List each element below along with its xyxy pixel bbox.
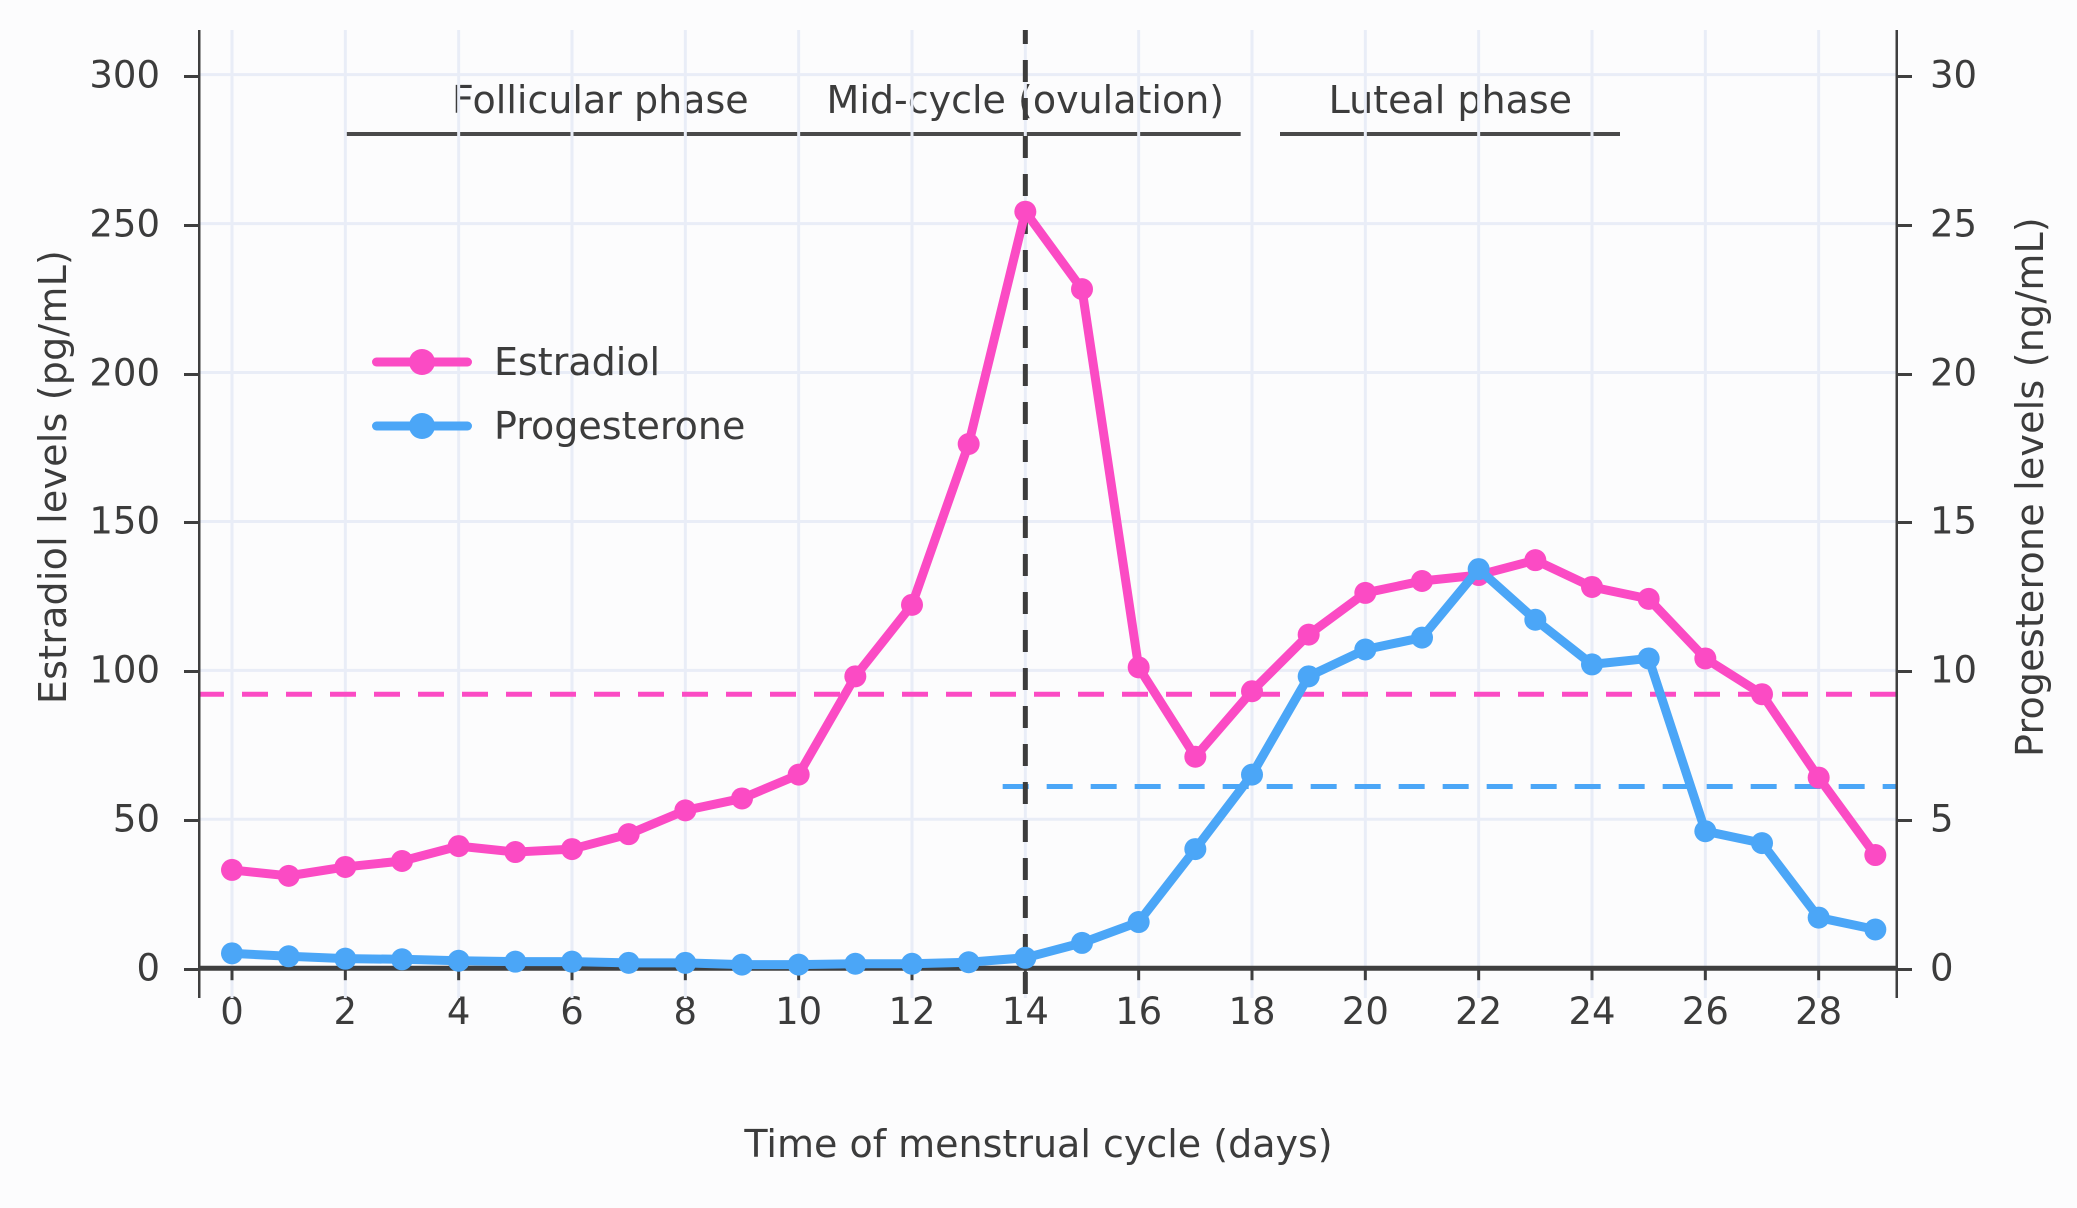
data-point-estradiol [1128,656,1150,678]
data-point-estradiol [1694,647,1716,669]
data-point-progesterone [1694,820,1716,842]
data-point-estradiol [1581,576,1603,598]
y-tick-mark-right [1898,521,1912,524]
series-line-progesterone [232,569,1875,965]
x-axis-title: Time of menstrual cycle (days) [0,1122,2077,1166]
y-tick-mark-right [1898,968,1912,971]
data-point-progesterone [334,948,356,970]
data-point-estradiol [1071,278,1093,300]
y-tick-label-right: 15 [1930,500,1977,543]
legend-label-progesterone: Progesterone [494,404,745,448]
y-axis-right-title: Progesterone levels (ng/mL) [2008,137,2052,837]
data-point-progesterone [1751,832,1773,854]
y-tick-mark-right [1898,670,1912,673]
data-point-estradiol [731,787,753,809]
data-point-estradiol [1864,844,1886,866]
legend-item-progesterone[interactable]: Progesterone [372,404,745,448]
data-point-estradiol [674,799,696,821]
data-point-estradiol [788,764,810,786]
y-tick-label-right: 25 [1930,202,1977,245]
data-point-estradiol [1184,746,1206,768]
data-point-estradiol [1808,767,1830,789]
data-point-progesterone [1014,947,1036,969]
y-tick-mark-left [184,224,198,227]
data-point-estradiol [1638,588,1660,610]
y-tick-label-left: 200 [89,351,160,394]
y-tick-label-right: 20 [1930,351,1977,394]
y-tick-label-right: 10 [1930,649,1977,692]
data-point-estradiol [278,865,300,887]
data-point-progesterone [1468,558,1490,580]
y-tick-mark-left [184,670,198,673]
data-point-progesterone [844,953,866,975]
data-point-progesterone [901,953,923,975]
y-tick-mark-left [184,968,198,971]
y-axis-left-title: Estradiol levels (pg/mL) [31,127,75,827]
data-point-progesterone [1184,838,1206,860]
data-point-progesterone [1241,764,1263,786]
data-point-progesterone [674,952,696,974]
data-point-progesterone [731,954,753,976]
data-point-estradiol [448,835,470,857]
data-point-progesterone [1411,627,1433,649]
data-point-estradiol [1241,680,1263,702]
chart-figure: Estradiol levels (pg/mL) Progesterone le… [0,0,2077,1208]
data-point-progesterone [561,951,583,973]
legend-label-estradiol: Estradiol [494,340,660,384]
data-point-estradiol [618,823,640,845]
data-point-estradiol [504,841,526,863]
data-point-progesterone [448,950,470,972]
y-tick-mark-left [184,521,198,524]
y-tick-label-left: 150 [89,500,160,543]
y-tick-label-left: 50 [113,798,160,841]
series-line-estradiol [232,212,1875,876]
data-point-progesterone [788,954,810,976]
y-tick-label-left: 300 [89,53,160,96]
y-tick-mark-right [1898,819,1912,822]
y-tick-mark-left [184,373,198,376]
y-tick-mark-left [184,819,198,822]
legend-item-estradiol[interactable]: Estradiol [372,340,745,384]
y-tick-mark-left [184,75,198,78]
y-tick-label-left: 100 [89,649,160,692]
plot-area [198,30,1898,998]
legend-swatch-progesterone [372,409,472,443]
y-tick-label-right: 5 [1930,798,1954,841]
data-point-progesterone [1581,653,1603,675]
data-point-progesterone [618,952,640,974]
data-point-progesterone [1638,647,1660,669]
data-point-estradiol [1354,582,1376,604]
y-tick-label-left: 250 [89,202,160,245]
data-point-estradiol [391,850,413,872]
data-point-estradiol [1751,683,1773,705]
chart-legend: Estradiol Progesterone [372,340,745,448]
data-point-progesterone [504,951,526,973]
y-tick-label-right: 30 [1930,53,1977,96]
data-point-progesterone [1354,639,1376,661]
y-tick-mark-right [1898,224,1912,227]
data-point-estradiol [1524,549,1546,571]
data-point-progesterone [958,951,980,973]
data-point-estradiol [1298,624,1320,646]
legend-swatch-estradiol [372,345,472,379]
data-point-estradiol [844,665,866,687]
y-tick-mark-right [1898,373,1912,376]
data-point-estradiol [901,594,923,616]
data-point-progesterone [391,948,413,970]
data-point-estradiol [561,838,583,860]
y-tick-label-right: 0 [1930,947,1954,990]
data-point-estradiol [958,433,980,455]
data-point-progesterone [1808,907,1830,929]
data-point-estradiol [1014,201,1036,223]
data-point-progesterone [1071,932,1093,954]
data-point-progesterone [278,945,300,967]
data-point-progesterone [1864,919,1886,941]
data-point-progesterone [1298,665,1320,687]
data-point-estradiol [221,859,243,881]
data-point-progesterone [1524,609,1546,631]
data-point-estradiol [1411,570,1433,592]
data-point-estradiol [334,856,356,878]
y-tick-mark-right [1898,75,1912,78]
data-point-progesterone [1128,911,1150,933]
y-tick-label-left: 0 [136,947,160,990]
data-point-progesterone [221,942,243,964]
